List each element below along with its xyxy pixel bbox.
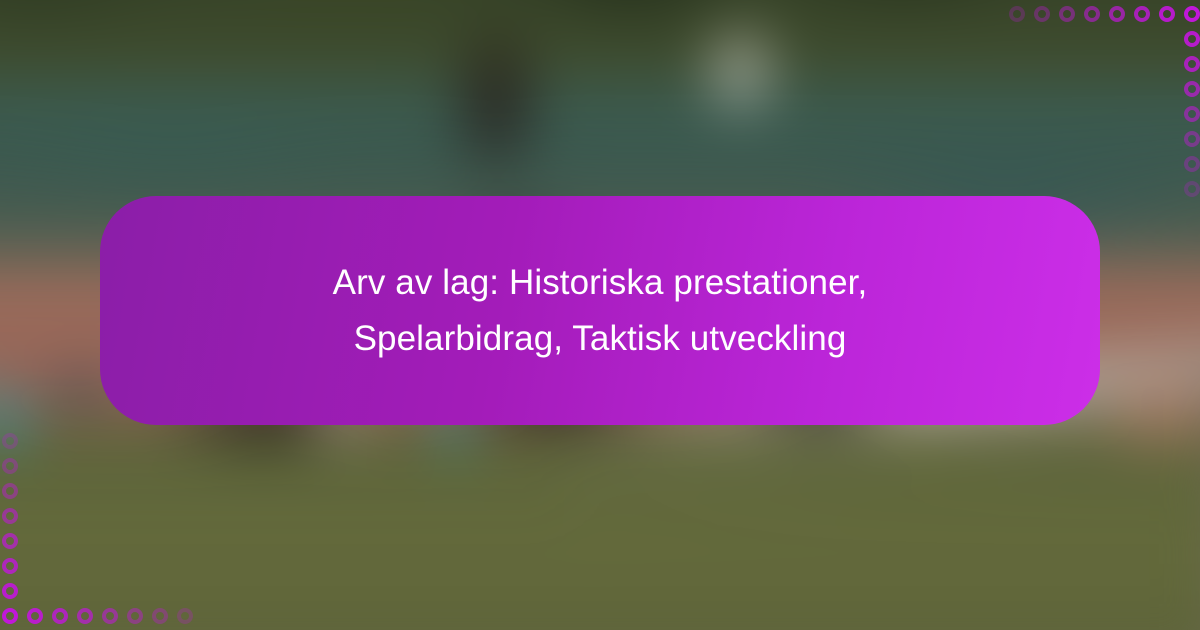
- decorative-dot: [1184, 6, 1200, 22]
- decorative-dot: [27, 608, 43, 624]
- decorative-dot: [1184, 56, 1200, 72]
- decorative-dot: [1184, 106, 1200, 122]
- decorative-dot: [127, 608, 143, 624]
- decorative-dot: [2, 433, 18, 449]
- social-card-canvas: Arv av lag: Historiska prestationer, Spe…: [0, 0, 1200, 630]
- decorative-dot: [1184, 31, 1200, 47]
- decorative-dot: [152, 608, 168, 624]
- decorative-dot: [2, 608, 18, 624]
- decorative-dot: [2, 483, 18, 499]
- decorative-dot: [1184, 156, 1200, 172]
- headline-title: Arv av lag: Historiska prestationer, Spe…: [290, 255, 910, 367]
- headline-card: Arv av lag: Historiska prestationer, Spe…: [100, 196, 1100, 425]
- decorative-dot: [1009, 6, 1025, 22]
- decorative-dot: [1109, 6, 1125, 22]
- decorative-dot: [102, 608, 118, 624]
- decorative-dot: [1059, 6, 1075, 22]
- decorative-dot: [1084, 6, 1100, 22]
- decorative-dot: [77, 608, 93, 624]
- decorative-dot: [177, 608, 193, 624]
- decorative-dot: [2, 508, 18, 524]
- decorative-dot: [2, 533, 18, 549]
- decorative-dot: [1184, 181, 1200, 197]
- decorative-dot: [2, 583, 18, 599]
- decorative-dot: [1159, 6, 1175, 22]
- decorative-dot: [1184, 81, 1200, 97]
- decorative-dot: [1184, 131, 1200, 147]
- decorative-dot: [2, 458, 18, 474]
- decorative-dot: [52, 608, 68, 624]
- decorative-dot: [2, 558, 18, 574]
- decorative-dot: [1034, 6, 1050, 22]
- decorative-dot: [1134, 6, 1150, 22]
